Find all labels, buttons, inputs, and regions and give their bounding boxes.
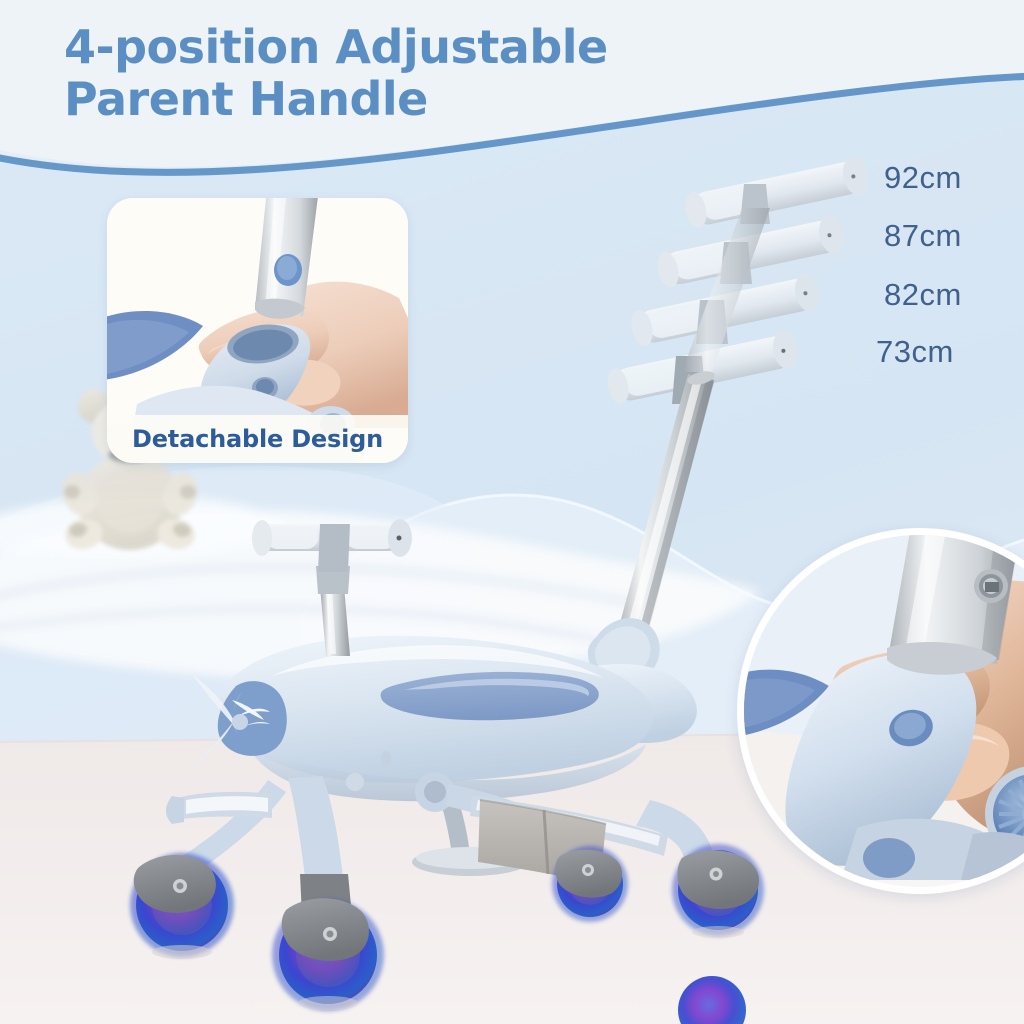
round-inset-neighbor-wheel [0,0,1024,1024]
infographic-canvas: 4-position Adjustable Parent Handle 92cm… [0,0,1024,1024]
